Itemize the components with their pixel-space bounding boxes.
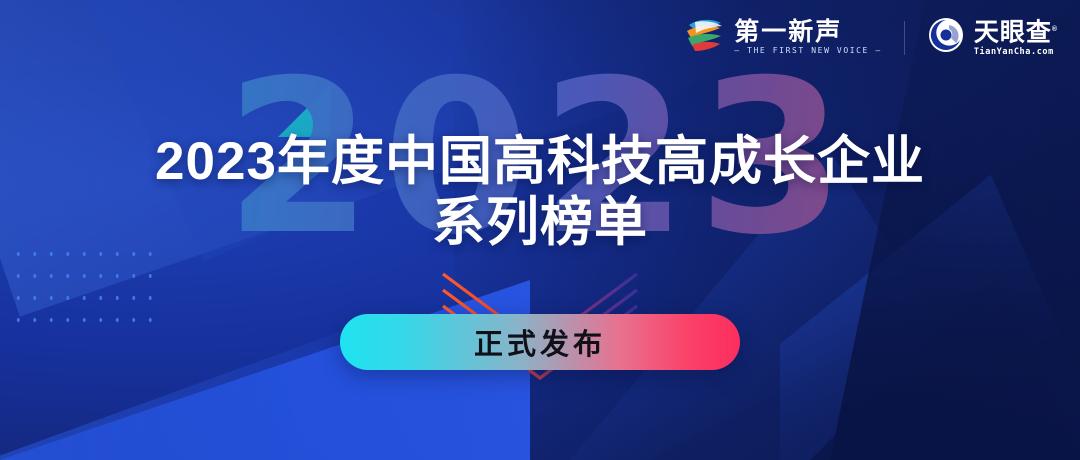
title-line-2: 系列榜单 bbox=[0, 192, 1080, 254]
logo-tianyancha[interactable]: 天眼查® TianYanCha.com bbox=[927, 16, 1058, 59]
tianyancha-tagline: TianYanCha.com bbox=[974, 46, 1058, 58]
trademark-symbol: ® bbox=[1052, 26, 1058, 33]
diyixinsheng-ribbon-icon bbox=[683, 16, 725, 59]
logo-group: 第一新声 — THE FIRST NEW VOICE — 天眼查® TianYa… bbox=[683, 16, 1058, 59]
tianyancha-name-cn: 天眼查® bbox=[974, 17, 1058, 45]
diyixinsheng-name-cn: 第一新声 bbox=[734, 19, 882, 45]
promo-banner: 2023 2023年度中国高科技高成长企业 系列榜单 bbox=[0, 0, 1080, 460]
tianyancha-eye-icon bbox=[927, 16, 965, 59]
release-status-label: 正式发布 bbox=[474, 321, 606, 363]
tianyancha-wordmark: 天眼查® TianYanCha.com bbox=[974, 17, 1058, 57]
tianyancha-name-text: 天眼查 bbox=[974, 19, 1052, 47]
logo-divider bbox=[904, 21, 905, 55]
release-status-pill[interactable]: 正式发布 bbox=[340, 314, 740, 370]
diyixinsheng-wordmark: 第一新声 — THE FIRST NEW VOICE — bbox=[734, 19, 882, 57]
diyixinsheng-tagline: — THE FIRST NEW VOICE — bbox=[734, 45, 882, 57]
title-line-1: 2023年度中国高科技高成长企业 bbox=[0, 132, 1080, 192]
page-title: 2023年度中国高科技高成长企业 系列榜单 bbox=[0, 132, 1080, 254]
logo-diyixinsheng[interactable]: 第一新声 — THE FIRST NEW VOICE — bbox=[683, 16, 882, 59]
